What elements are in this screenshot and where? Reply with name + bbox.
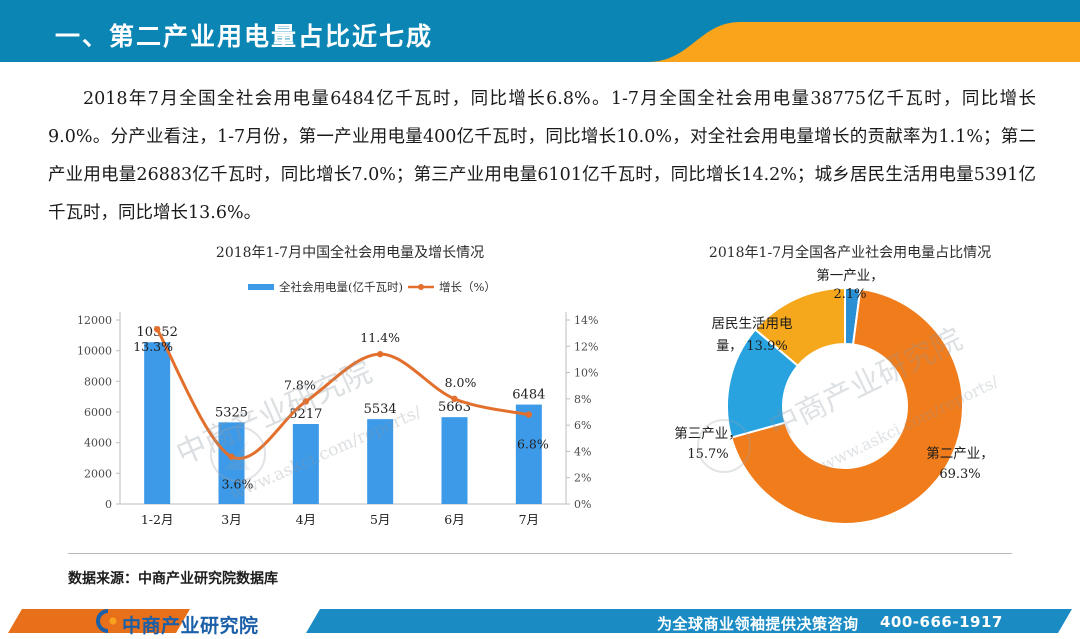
- header-underline: [0, 62, 1080, 68]
- y-tick-label-left: 10000: [78, 345, 112, 358]
- line-point: [154, 326, 160, 332]
- charts-region: 2018年1-7月中国全社会用电量及增长情况 2018年1-7月全国各产业社会用…: [0, 236, 1080, 546]
- line-point: [451, 396, 457, 402]
- y-tick-label-left: 6000: [84, 406, 112, 419]
- legend-label-bar: 全社会用电量(亿千瓦时): [279, 280, 403, 294]
- donut-label-value: 15.7%: [687, 447, 728, 462]
- line-value-label: 13.3%: [133, 339, 173, 354]
- donut-label: 第三产业，15.7%: [674, 425, 742, 462]
- legend-marker-line: [418, 284, 424, 290]
- source-divider: [68, 553, 1012, 554]
- donut-label-name: 居民生活用电: [712, 316, 793, 332]
- x-tick-label: 7月: [519, 512, 539, 527]
- data-source-label: 数据来源：中商产业研究院数据库: [68, 568, 278, 588]
- x-tick-label: 4月: [296, 512, 316, 527]
- donut-chart-title: 2018年1-7月全国各产业社会用电量占比情况: [640, 242, 1060, 262]
- donut-label-name: 第二产业，: [926, 445, 994, 462]
- y-tick-label-right: 12%: [574, 340, 598, 353]
- legend-swatch-bar: [248, 284, 274, 290]
- y-tick-label-left: 2000: [84, 467, 112, 480]
- x-tick-label: 1-2月: [141, 512, 174, 527]
- donut-chart: 第一产业，2.1%第二产业，69.3%第三产业，15.7%居民生活用电量， 13…: [660, 266, 1060, 546]
- footer-phone-number: 400-666-1917: [880, 613, 1003, 631]
- y-tick-label-right: 14%: [574, 314, 598, 327]
- donut-label-value: 量， 13.9%: [716, 339, 787, 354]
- donut-label-name: 第一产业，: [816, 267, 884, 284]
- line-value-label: 11.4%: [360, 330, 400, 345]
- bar: [144, 342, 170, 504]
- y-tick-label-left: 12000: [78, 314, 112, 327]
- bar-line-chart: 全社会用电量(亿千瓦时)增长（%）02000400060008000100001…: [78, 272, 618, 538]
- donut-label-name: 第三产业，: [674, 425, 742, 442]
- line-value-label: 8.0%: [445, 375, 477, 390]
- bar: [516, 405, 542, 504]
- slide-header: 一、第二产业用电量占比近七成: [0, 0, 1080, 68]
- x-tick-label: 6月: [444, 512, 464, 527]
- y-tick-label-right: 10%: [574, 367, 598, 380]
- page-title: 一、第二产业用电量占比近七成: [55, 17, 433, 53]
- line-point: [377, 351, 383, 357]
- donut-label-value: 2.1%: [833, 287, 866, 302]
- footer-brand-name: 中商产业研究院: [122, 611, 259, 638]
- slide-page: 一、第二产业用电量占比近七成 2018年7月全国全社会用电量6484亿千瓦时，同…: [0, 0, 1080, 639]
- bar: [442, 417, 468, 504]
- y-tick-label-left: 8000: [84, 375, 112, 388]
- x-tick-label: 5月: [370, 512, 390, 527]
- legend-label-line: 增长（%）: [439, 280, 496, 294]
- x-tick-label: 3月: [221, 512, 241, 527]
- bar-chart-title: 2018年1-7月中国全社会用电量及增长情况: [100, 242, 600, 262]
- y-tick-label-right: 4%: [574, 445, 591, 458]
- footer-slogan: 为全球商业领袖提供决策咨询: [657, 613, 859, 634]
- chart-legend: 全社会用电量(亿千瓦时)增长（%）: [248, 280, 496, 294]
- y-tick-label-left: 4000: [84, 437, 112, 450]
- line-point: [526, 411, 532, 417]
- slide-footer: 中商产业研究院 为全球商业领袖提供决策咨询 400-666-1917: [0, 603, 1080, 639]
- y-tick-label-left: 0: [105, 498, 112, 511]
- y-tick-label-right: 6%: [574, 419, 591, 432]
- body-paragraph: 2018年7月全国全社会用电量6484亿千瓦时，同比增长6.8%。1-7月全国全…: [48, 80, 1036, 232]
- bar-value-label: 6484: [512, 388, 545, 403]
- donut-label-value: 69.3%: [939, 467, 980, 482]
- y-tick-label-right: 2%: [574, 472, 591, 485]
- line-value-label: 6.8%: [517, 437, 549, 452]
- y-tick-label-right: 8%: [574, 393, 591, 406]
- y-tick-label-right: 0%: [574, 498, 591, 511]
